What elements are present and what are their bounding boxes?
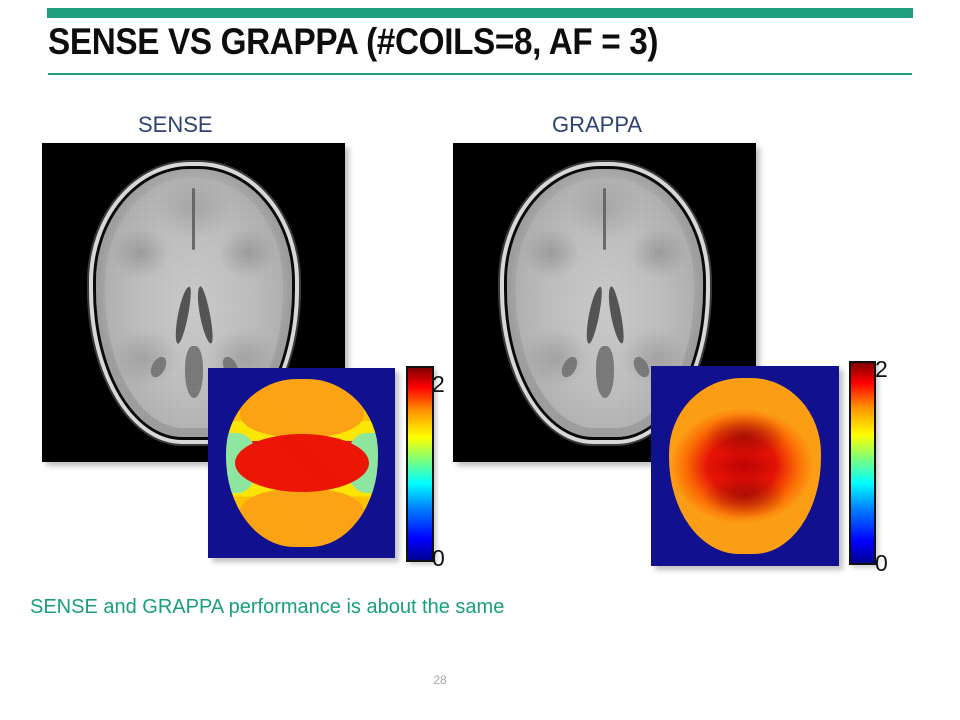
slide-caption: SENSE and GRAPPA performance is about th… [30,596,504,619]
colorbar-sense [406,366,434,562]
page-number: 28 [424,673,456,687]
colorbar-tick-min-sense: 0 [432,545,445,572]
title-underline-rule [48,73,912,75]
page-title: SENSE VS GRAPPA (#COILS=8, AF = 3) [48,18,840,66]
gfactor-map-sense [208,368,395,558]
gfactor-map-grappa [651,366,839,566]
colorbar-gradient-jet [408,368,432,560]
gfactor-noise-texture [226,379,378,547]
colorbar-gradient-jet [851,363,874,563]
gfactor-noise-texture [669,378,821,554]
colorbar-tick-max-sense: 2 [432,371,445,398]
panel-label-grappa: GRAPPA [552,112,642,138]
colorbar-tick-min-grappa: 0 [875,550,888,577]
gfactor-head-region-sense [226,379,378,547]
panel-label-sense: SENSE [138,112,213,138]
colorbar-tick-max-grappa: 2 [875,356,888,383]
slide: SENSE VS GRAPPA (#COILS=8, AF = 3) SENSE… [0,0,960,720]
gfactor-head-region-grappa [669,378,821,554]
colorbar-grappa [849,361,876,565]
title-top-bar [47,8,913,18]
